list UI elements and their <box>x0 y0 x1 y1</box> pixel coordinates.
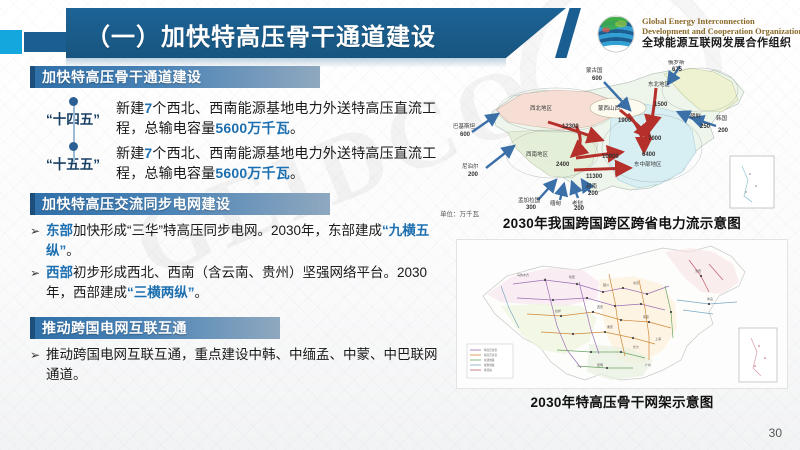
bullet-part-end: 。 <box>195 285 209 300</box>
map-node-value: 250 <box>700 124 711 130</box>
plan-connector-line <box>73 100 75 162</box>
plan-dot-icon <box>69 142 78 151</box>
map-node-value: 600 <box>592 76 603 82</box>
slide: GEIDCO （一）加快特高压骨干通道建设 <box>0 0 800 450</box>
map-caption-uhv-grid: 2030年特高压骨干网架示意图 <box>452 391 792 411</box>
plan-emphasis-capacity: 5600万千瓦 <box>215 120 290 136</box>
map-node-label: 蒙古国 <box>586 66 603 74</box>
bullet-list-cross-border: ➢ 推动跨国电网互联互通，重点建设中韩、中缅孟、中蒙、中巴联网通道。 <box>30 345 450 386</box>
list-item-text: 推动跨国电网互联互通，重点建设中韩、中缅孟、中蒙、中巴联网通道。 <box>46 345 450 386</box>
plan-text-part1: 新建 <box>116 100 144 116</box>
list-item: ➢ 东部加快形成“三华”特高压同步电网。2030年，东部建成“九横五纵”。 <box>30 221 450 262</box>
header-cyan-square <box>0 30 22 54</box>
map-card-uhv-backbone-grid: 乌鲁木齐哈密 银川北京 拉萨西安 南京重庆 长沙上海 昆明广州 沈阳青岛 <box>452 239 792 411</box>
bullet-list-ac-sync: ➢ 东部加快形成“三华”特高压同步电网。2030年，东部建成“九横五纵”。 ➢ … <box>30 221 450 303</box>
plan-row-15th: “十五五” 新建7个西北、西南能源基地电力外送特高压直流工程，总输电容量5600… <box>30 139 450 184</box>
logo-cn-name: 全球能源互联网发展合作组织 <box>642 37 800 50</box>
svg-text:换流站: 换流站 <box>484 368 492 372</box>
svg-text:在建线路: 在建线路 <box>484 358 495 362</box>
arrow-bullet-icon: ➢ <box>30 263 46 304</box>
plan-dot-icon <box>69 97 78 106</box>
svg-text:广州: 广州 <box>645 362 651 367</box>
map-region-label: 蒙西山西 <box>598 104 621 112</box>
header-diagonal-stripe <box>555 8 581 58</box>
svg-text:重庆: 重庆 <box>607 324 613 329</box>
map-region-label: 东北地区 <box>648 80 671 88</box>
section-header-cross-border-grid: 推动跨国电网互联互通 <box>30 317 280 339</box>
left-content-column: 加快特高压骨干通道建设 “十四五” 新建7个西北、西南能源基地电力外送特高压直流… <box>30 66 450 387</box>
svg-text:哈密: 哈密 <box>569 274 575 279</box>
map-node-value: 300 <box>526 205 537 210</box>
section-header-uhv-backbone: 加快特高压骨干通道建设 <box>30 66 320 88</box>
logo-en-line2: Development and Cooperation Organization <box>642 26 800 36</box>
map-node-value: 200 <box>588 191 599 197</box>
svg-text:上海: 上海 <box>655 336 661 341</box>
bullet-part-east: 东部 <box>46 223 73 238</box>
svg-text:特高压直流: 特高压直流 <box>484 353 497 357</box>
svg-text:乌鲁木齐: 乌鲁木齐 <box>517 272 529 277</box>
map-node-label: 巴基斯坦 <box>453 122 476 130</box>
svg-text:北京: 北京 <box>633 280 639 285</box>
map-region-label: 东中部地区 <box>634 160 662 168</box>
plan-text-14th: 新建7个西北、西南能源基地电力外送特高压直流工程，总输电容量5600万千瓦。 <box>116 94 450 139</box>
plan-block: “十四五” 新建7个西北、西南能源基地电力外送特高压直流工程，总输电容量5600… <box>30 94 450 183</box>
map-region-label: 西北地区 <box>530 104 553 112</box>
list-item: ➢ 西部初步形成西北、西南（含云南、贵州）坚强网络平台。2030年，西部建成“三… <box>30 263 450 304</box>
map-node-value: 200 <box>468 172 479 178</box>
map-node-label: 孟加拉国 <box>518 196 541 204</box>
map-flow-value: 2400 <box>556 162 570 168</box>
map-node-label: 朝鲜 <box>690 112 702 120</box>
map-card-power-flow: 西北地区 西南地区 东中部地区 东北地区 蒙西山西 12300 10900 70… <box>452 60 792 232</box>
map-flow-value: 11300 <box>586 174 603 180</box>
map-unit-label: 单位：万千瓦 <box>440 208 479 218</box>
bullet-part-body: 加快形成“三华”特高压同步电网。2030年，东部建成 <box>73 223 382 238</box>
map-node-label: 尼泊尔 <box>462 162 479 170</box>
bullet-part-end: 。 <box>66 243 80 258</box>
map-node-value: 675 <box>672 67 683 73</box>
svg-text:长沙: 长沙 <box>633 344 639 349</box>
list-item: ➢ 推动跨国电网互联互通，重点建设中韩、中缅孟、中蒙、中巴联网通道。 <box>30 345 450 386</box>
page-number: 30 <box>769 426 782 440</box>
plan-text-part3: 。 <box>290 165 304 181</box>
map-uhv-grid-graphic: 乌鲁木齐哈密 银川北京 拉萨西安 南京重庆 长沙上海 昆明广州 沈阳青岛 <box>456 239 788 389</box>
map-flow-value: 1500 <box>654 102 668 108</box>
map-node-value: 200 <box>574 206 585 210</box>
svg-text:拉萨: 拉萨 <box>555 308 561 313</box>
list-item-text: 东部加快形成“三华”特高压同步电网。2030年，东部建成“九横五纵”。 <box>46 221 450 262</box>
slide-header: （一）加快特高压骨干通道建设 <box>0 8 800 58</box>
plan-text-part3: 。 <box>290 120 304 136</box>
svg-text:规划线路: 规划线路 <box>484 363 495 367</box>
map-node-value: 600 <box>460 132 471 138</box>
list-item-text: 西部初步形成西北、西南（含云南、贵州）坚强网络平台。2030年，西部建成“三横两… <box>46 263 450 304</box>
section-heading-label: 加快特高压交流同步电网建设 <box>42 194 231 214</box>
map-node-label: 越南 <box>586 182 598 190</box>
plan-emphasis-capacity: 5600万千瓦 <box>215 165 290 181</box>
plan-text-part1: 新建 <box>116 145 144 161</box>
map-node-label: 俄罗斯 <box>668 60 685 66</box>
bullet-part-west: 西部 <box>46 265 73 280</box>
map-node-label: 韩国 <box>716 114 728 122</box>
svg-text:银川: 银川 <box>603 282 609 287</box>
map-node-value: 200 <box>718 128 729 134</box>
map-caption-power-flow: 2030年我国跨国跨区跨省电力流示意图 <box>452 212 792 232</box>
map-flow-value: 6400 <box>642 152 656 158</box>
page-title: （一）加快特高压骨干通道建设 <box>86 17 436 52</box>
map-power-flow-graphic: 西北地区 西南地区 东中部地区 东北地区 蒙西山西 12300 10900 70… <box>452 60 792 210</box>
bullet-part-quote: “三横两纵” <box>127 285 195 300</box>
plan-text-15th: 新建7个西北、西南能源基地电力外送特高压直流工程，总输电容量5600万千瓦。 <box>116 139 450 184</box>
arrow-bullet-icon: ➢ <box>30 345 46 386</box>
section-header-uhv-ac-sync-grid: 加快特高压交流同步电网建设 <box>30 193 330 215</box>
section-heading-label: 加快特高压骨干通道建设 <box>42 67 202 87</box>
logo-en-line1: Global Energy Interconnection <box>642 16 800 26</box>
map-flow-value: 1900 <box>618 118 632 124</box>
bullet-part-body: 初步形成西北、西南（含云南、贵州）坚强网络平台。2030年，西部建成 <box>46 265 427 300</box>
svg-text:沈阳: 沈阳 <box>695 268 701 273</box>
arrow-bullet-icon: ➢ <box>30 221 46 262</box>
map-flow-value: 12300 <box>562 124 579 130</box>
svg-text:青岛: 青岛 <box>707 296 713 301</box>
svg-text:昆明: 昆明 <box>597 362 603 367</box>
map-region-label: 西南地区 <box>526 150 549 158</box>
svg-text:西安: 西安 <box>597 304 603 309</box>
map-flow-value: 7000 <box>648 136 662 142</box>
geidco-globe-logo-icon <box>596 14 636 54</box>
map-flow-value: 10900 <box>602 154 619 160</box>
right-map-column: 西北地区 西南地区 东中部地区 东北地区 蒙西山西 12300 10900 70… <box>452 60 792 411</box>
svg-text:特高压交流: 特高压交流 <box>484 348 497 352</box>
map-node-label: 缅甸 <box>550 199 562 207</box>
svg-text:南京: 南京 <box>643 314 649 319</box>
section-heading-label: 推动跨国电网互联互通 <box>42 318 187 338</box>
plan-row-14th: “十四五” 新建7个西北、西南能源基地电力外送特高压直流工程，总输电容量5600… <box>30 94 450 139</box>
logo-text-block: Global Energy Interconnection Developmen… <box>642 16 800 50</box>
